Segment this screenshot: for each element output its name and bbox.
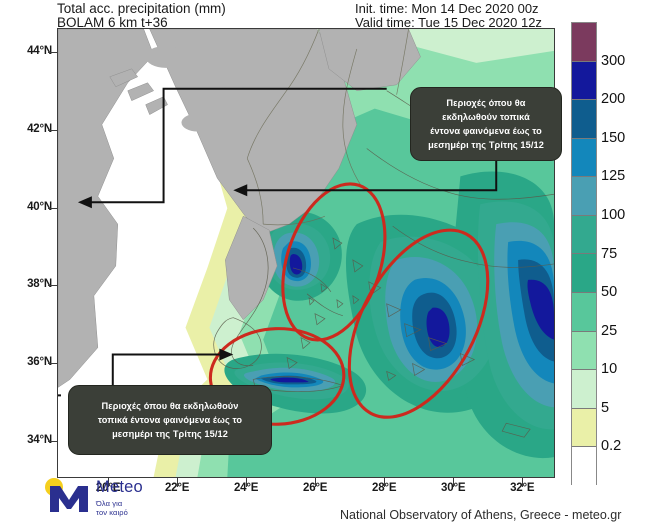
callout-bottom-line-2: τοπικά έντονα φαινόμενα έως το [98,413,242,427]
colorbar-label-10: 10 [601,361,617,377]
grey-patch [182,114,214,132]
lat-tick-40 [48,208,57,209]
colorbar-band-0.2-5 [572,409,596,448]
colorbar-band-0.2 [572,447,596,486]
lat-tick-42 [48,130,57,131]
lon-tick-32 [522,478,523,487]
logo-m-icon [50,486,88,512]
colorbar-band-300 [572,23,596,62]
colorbar-band-200-300 [572,62,596,101]
colorbar-band-25-50 [572,293,596,332]
colorbar-band-100-125 [572,177,596,216]
colorbar-label-100: 100 [601,207,625,223]
lon-tick-24 [246,478,247,487]
init-time-label: Init. time: Mon 14 Dec 2020 00z [355,2,542,16]
colorbar-label-50: 50 [601,284,617,300]
grey-patch [146,46,186,68]
lat-label-34: 34°N [27,434,52,446]
model-time-info: Init. time: Mon 14 Dec 2020 00z Valid ti… [355,2,542,30]
callout-top-line-2: εκδηλωθούν τοπικά [442,110,530,124]
lat-tick-36 [48,363,57,364]
logo-wordmark: Meteo [96,478,143,497]
logo-tagline-1: Όλα για [96,499,122,508]
callout-bottom-line-1: Περιοχές όπου θα εκδηλωθούν [102,399,239,413]
callout-top-line-4: μεσημέρι της Τρίτης 15/12 [428,138,544,152]
precipitation-colorbar[interactable] [571,22,597,485]
lon-tick-26 [315,478,316,487]
colorbar-band-125-150 [572,139,596,178]
lat-tick-34 [48,441,57,442]
colorbar-band-5-10 [572,370,596,409]
colorbar-band-150-200 [572,100,596,139]
colorbar-label-150: 150 [601,130,625,146]
callout-bottom-line-3: μεσημέρι της Τρίτης 15/12 [112,427,228,441]
colorbar-label-5: 5 [601,400,609,416]
map-title-line-1: Total acc. precipitation (mm) [57,2,226,16]
grey-patch [339,59,375,79]
map-title: Total acc. precipitation (mm) BOLAM 6 km… [57,2,226,30]
logo-tagline-2: τον καιρό [96,508,128,517]
colorbar-band-50-75 [572,254,596,293]
callout-top-line-3: έντονα φαινόμενα έως το [430,124,542,138]
lat-tick-38 [48,285,57,286]
lat-label-38: 38°N [27,278,52,290]
lat-label-44: 44°N [27,45,52,57]
colorbar-label-125: 125 [601,168,625,184]
colorbar-label-25: 25 [601,323,617,339]
annotation-callout-bottom[interactable]: Περιοχές όπου θα εκδηλωθούντοπικά έντονα… [68,385,272,455]
footer-credit: National Observatory of Athens, Greece -… [340,508,621,522]
grey-patch [239,152,267,168]
lat-label-36: 36°N [27,356,52,368]
colorbar-label-0.2: 0.2 [601,438,621,454]
colorbar-label-200: 200 [601,91,625,107]
lat-tick-44 [48,52,57,53]
lat-label-42: 42°N [27,123,52,135]
lon-tick-28 [384,478,385,487]
colorbar-label-75: 75 [601,246,617,262]
colorbar-label-300: 300 [601,53,625,69]
grey-patch [211,65,255,89]
colorbar-band-75-100 [572,216,596,255]
colorbar-band-10-25 [572,332,596,371]
lon-tick-30 [453,478,454,487]
lat-label-40: 40°N [27,201,52,213]
annotation-callout-top[interactable]: Περιοχές όπου θαεκδηλωθούν τοπικάέντονα … [410,87,562,161]
callout-top-line-1: Περιοχές όπου θα [446,96,525,110]
grey-patch [289,138,329,160]
